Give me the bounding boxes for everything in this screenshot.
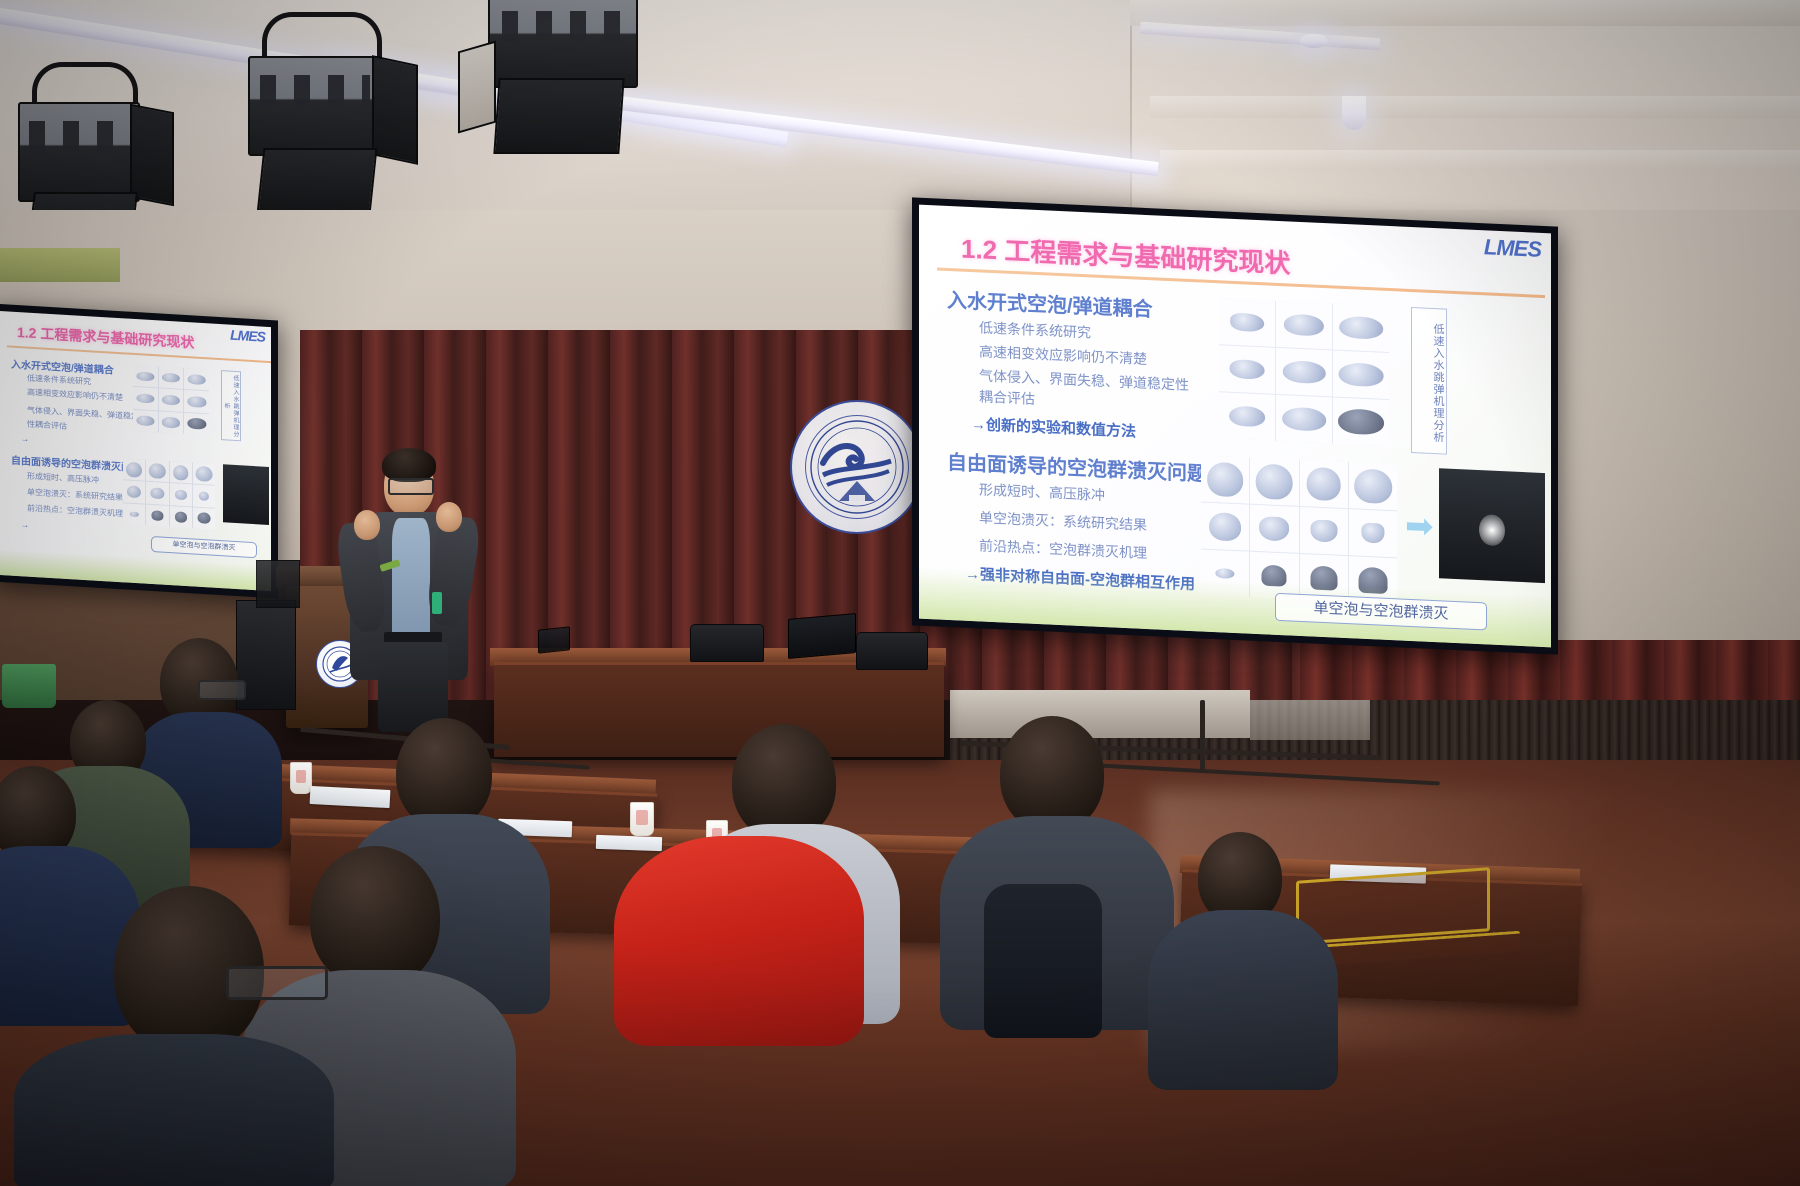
spotlight-barndoor-bottom — [493, 78, 624, 154]
thumb-cell — [159, 366, 184, 389]
side-slide-caption-box: 单空泡与空泡群溃灭 — [151, 536, 257, 558]
side-video-panel — [223, 464, 269, 525]
slide-arrow-1: →创新的实验和数值方法 — [971, 413, 1136, 441]
thumb-cell — [133, 410, 158, 433]
thumb-cell — [1333, 350, 1389, 399]
spotlight-barndoor-bottom — [257, 148, 378, 214]
audience-head — [310, 846, 440, 988]
slide-subbullet-1-3: 气体侵入、界面失稳、弹道稳定性耦合评估 — [979, 365, 1199, 417]
spotlight-body — [248, 56, 382, 156]
slide-subbullet-2-2: 单空泡溃灭：系统研究结果 — [979, 507, 1147, 535]
side-thumbnail-grid-bottom — [123, 458, 215, 529]
spotlight-barndoor-right — [372, 55, 418, 165]
presenter-hair — [382, 448, 436, 482]
thumb-cell — [170, 461, 192, 484]
high-speed-video-panel — [1439, 468, 1545, 583]
thumb-cell — [1219, 298, 1275, 347]
audience-torso — [14, 1034, 334, 1186]
paper-cup-2[interactable] — [630, 802, 654, 836]
side-subbullet-6: 单空泡溃灭：系统研究结果 — [27, 487, 123, 504]
thumb-cell — [1250, 458, 1298, 506]
stage-cable-vertical — [1200, 700, 1205, 770]
stage-laptop-1[interactable] — [788, 613, 856, 659]
spotlight-barndoor-left — [458, 41, 496, 134]
lecture-hall-photo: LMES 1.2 工程需求与基础研究现状 入水开式空泡/弹道耦合 低速条件系统研… — [0, 0, 1800, 1186]
slide-subbullet-2-3: 前沿热点：空泡群溃灭机理 — [979, 535, 1147, 563]
thumb-cell — [1276, 395, 1332, 444]
stage-laptop-2[interactable] — [538, 626, 570, 653]
thumb-cell — [193, 507, 215, 530]
presenter-hand-left — [354, 510, 380, 540]
stage-chair-1[interactable] — [690, 624, 764, 662]
notebook-3[interactable] — [596, 835, 662, 851]
thumb-cell — [184, 368, 209, 391]
thumb-cell — [1276, 301, 1332, 350]
thumb-cell — [159, 411, 184, 434]
ceiling-beam-3 — [1160, 150, 1800, 170]
thumb-cell — [146, 460, 168, 483]
cavity-thumbnail-grid-top — [1219, 298, 1389, 446]
thumb-cell — [1219, 392, 1275, 441]
side-slide-side-label: 低速入水跳弹机理分析 — [221, 370, 241, 441]
ceiling-beam-1 — [1130, 0, 1800, 26]
thumb-cell — [159, 389, 184, 412]
presenter-hand-right — [436, 502, 462, 532]
slide-bullet-1: 入水开式空泡/弹道耦合 — [947, 284, 1153, 322]
slide-corner-logo: LMES — [1484, 234, 1541, 263]
ceiling-beam-2 — [1150, 96, 1800, 118]
side-arrow-2: → — [21, 520, 29, 529]
thumb-cell — [1219, 345, 1275, 394]
spotlight-barndoor-right — [130, 104, 174, 207]
thumb-cell — [1349, 509, 1397, 557]
backpack — [984, 884, 1102, 1038]
side-slide: LMES 1.2 工程需求与基础研究现状 入水开式空泡/弹道耦合 低速条件系统研… — [0, 311, 271, 591]
thumb-cell — [123, 481, 145, 504]
audience-glasses-icon — [198, 680, 246, 700]
slide-subbullet-1-2: 高速相变效应影响仍不清楚 — [979, 341, 1147, 369]
main-projection-screen: LMES 1.2 工程需求与基础研究现状 入水开式空泡/弹道耦合 低速条件系统研… — [912, 197, 1558, 654]
thumb-cell — [133, 365, 158, 388]
thumb-cell — [170, 483, 192, 506]
thumb-cell — [1349, 462, 1397, 510]
video-flash-highlight — [1479, 514, 1504, 546]
side-subbullet-2: 高速相变效应影响仍不清楚 — [27, 387, 123, 404]
thumb-cell — [1333, 397, 1389, 446]
side-slide-corner-logo: LMES — [230, 327, 265, 345]
stage-chair-2[interactable] — [856, 632, 928, 670]
thumb-cell — [133, 387, 158, 410]
thumb-cell — [1300, 460, 1348, 508]
side-subbullet-4: 性耦合评估 — [27, 419, 67, 432]
audience-head — [1000, 716, 1104, 832]
thumb-cell — [184, 390, 209, 413]
side-arrow-1: → — [21, 434, 29, 443]
main-slide: LMES 1.2 工程需求与基础研究现状 入水开式空泡/弹道耦合 低速条件系统研… — [919, 205, 1551, 648]
slide-subbullet-2-1: 形成短时、高压脉冲 — [979, 479, 1105, 505]
thumb-cell — [1250, 505, 1298, 553]
stage-edge-right — [1250, 700, 1370, 740]
seal-inner-ring — [805, 415, 909, 519]
thumb-cell — [146, 482, 168, 505]
audience-glasses-icon-2 — [226, 966, 328, 1000]
thumb-cell — [193, 485, 215, 508]
slide-subbullet-1-1: 低速条件系统研究 — [979, 317, 1091, 342]
spotlight-vents — [502, 11, 625, 42]
ceiling-downlight-1 — [1300, 34, 1328, 48]
slide-side-label: 低速入水跳弹机理分析 — [1411, 307, 1447, 455]
presenter-shirt — [392, 518, 430, 636]
thumb-cell — [170, 506, 192, 529]
side-subbullet-5: 形成短时、高压脉冲 — [27, 471, 99, 486]
thumb-cell — [1201, 455, 1249, 503]
stage-table — [494, 662, 944, 757]
presenter-badge-icon — [432, 592, 442, 614]
thumb-cell — [123, 458, 145, 481]
red-jacket-on-chair — [614, 836, 864, 1046]
thumb-cell — [193, 462, 215, 485]
ceiling-downlight-2 — [1342, 96, 1366, 130]
thumb-cell — [184, 413, 209, 436]
presenter-glasses-icon — [388, 478, 434, 495]
trash-bin — [2, 664, 56, 708]
thumb-cell — [146, 504, 168, 527]
audience-torso — [1148, 910, 1338, 1090]
spotlight-vents — [260, 75, 369, 108]
spotlight-body — [18, 102, 140, 202]
stage-step-railing — [1296, 867, 1490, 945]
side-subbullet-7: 前沿热点：空泡群溃灭机理 — [27, 503, 123, 520]
spotlight-body — [488, 0, 638, 88]
flow-arrow-icon: ➡ — [1405, 509, 1434, 544]
audience-head — [396, 718, 492, 828]
stage-equipment-box — [256, 560, 300, 608]
thumb-cell — [1300, 507, 1348, 555]
side-thumbnail-grid-top — [133, 365, 209, 436]
stage-wall-seal — [790, 400, 924, 534]
thumb-cell — [1276, 348, 1332, 397]
wall-green-accent — [0, 248, 120, 282]
thumb-cell — [1201, 502, 1249, 550]
side-projection-screen: LMES 1.2 工程需求与基础研究现状 入水开式空泡/弹道耦合 低速条件系统研… — [0, 304, 278, 599]
stage-edge-left — [950, 690, 1250, 738]
thumb-cell — [1333, 303, 1389, 352]
paper-cup-1[interactable] — [290, 762, 312, 794]
audience-head — [732, 724, 836, 840]
thumb-cell — [123, 503, 145, 526]
spotlight-vents — [29, 121, 128, 154]
